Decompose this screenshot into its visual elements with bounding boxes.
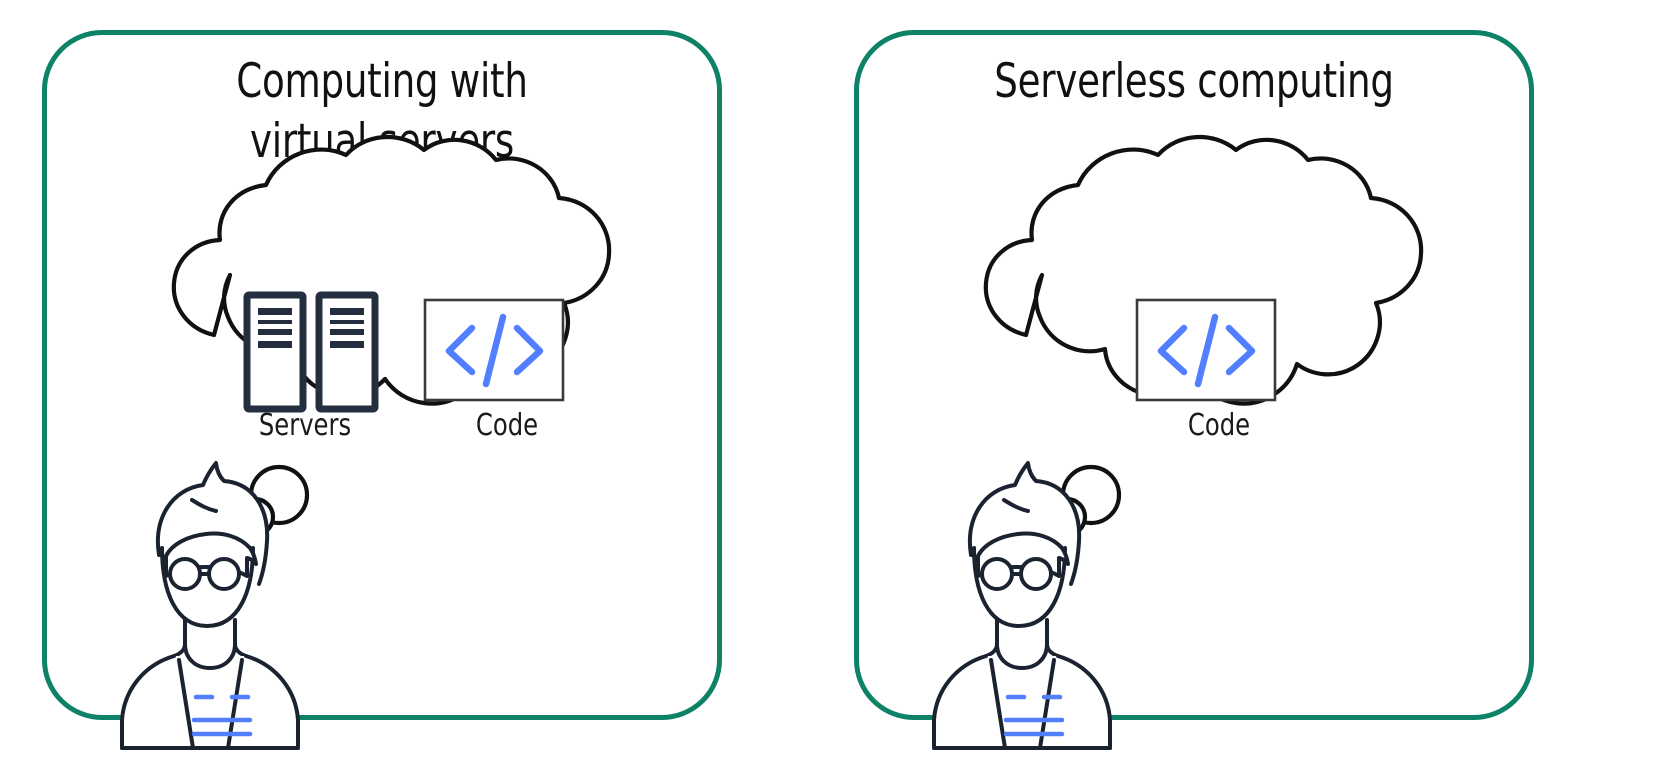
panel-serverless-computing: Serverless computing [854,30,1534,720]
diagram-canvas: Computing with virtual servers [0,0,1680,772]
scene-right: Code [854,30,1534,720]
panel-computing-with-virtual-servers: Computing with virtual servers [42,30,722,720]
code-icon-label-left: Code [431,408,584,443]
code-icon-left [425,300,563,400]
code-icon-right [1137,300,1275,400]
scene-left: Servers Code [42,30,722,720]
code-icon-label-right: Code [1143,408,1296,443]
servers-icon-label: Servers [229,408,382,443]
